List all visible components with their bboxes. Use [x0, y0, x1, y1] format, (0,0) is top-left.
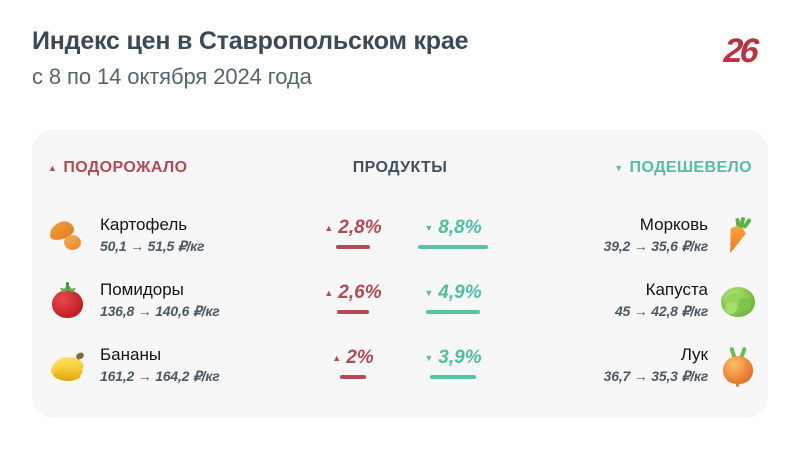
triangle-down-icon: ▼ — [424, 289, 433, 298]
percent-bar — [418, 245, 488, 249]
onion-emoji — [718, 345, 758, 385]
percent-cell-group: ▲ 2% ▼ 3,9% — [312, 348, 494, 383]
triangle-up-icon: ▲ — [332, 354, 341, 363]
title-block: Индекс цен в Ставропольском крае с 8 по … — [32, 26, 468, 91]
percent-bar — [426, 310, 480, 314]
percent-fallen: ▼ 3,9% — [412, 348, 494, 379]
triangle-up-icon: ▲ — [324, 289, 333, 298]
risen-product-cell: Бананы 161,2 → 164,2 ₽/кг — [32, 345, 312, 386]
product-price: 50,1 → 51,5 ₽/кг — [100, 238, 204, 256]
percent-bar — [340, 375, 366, 379]
product-name: Картофель — [100, 215, 204, 235]
potato-emoji — [48, 215, 88, 255]
percent-value: 8,8% — [438, 218, 481, 239]
percent-fallen: ▼ 4,9% — [412, 283, 494, 314]
fallen-product-cell: Капуста 45 → 42,8 ₽/кг — [494, 280, 774, 321]
table-row: Картофель 50,1 → 51,5 ₽/кг ▲ 2,8% ▼ 8,8% — [32, 203, 768, 268]
triangle-down-icon: ▼ — [424, 224, 433, 233]
product-price: 39,2 → 35,6 ₽/кг — [604, 238, 708, 256]
percent-bar — [430, 375, 476, 379]
column-header-risen: ▲ ПОДОРОЖАЛО — [32, 159, 312, 177]
carrot-emoji — [718, 215, 758, 255]
percent-bar — [336, 245, 370, 249]
triangle-down-icon: ▼ — [614, 164, 623, 173]
product-price: 36,7 → 35,3 ₽/кг — [604, 368, 708, 386]
product-name: Капуста — [646, 280, 708, 300]
percent-fallen: ▼ 8,8% — [412, 218, 494, 249]
page-title: Индекс цен в Ставропольском крае — [32, 26, 468, 58]
column-header-products: ПРОДУКТЫ — [312, 159, 488, 177]
fallen-product-cell: Морковь 39,2 → 35,6 ₽/кг — [494, 215, 774, 256]
page-header: Индекс цен в Ставропольском крае с 8 по … — [32, 26, 768, 91]
percent-value: 2,6% — [338, 283, 381, 304]
column-header-fallen-label: ПОДЕШЕВЕЛО — [630, 159, 752, 177]
rows-container: Картофель 50,1 → 51,5 ₽/кг ▲ 2,8% ▼ 8,8% — [32, 203, 768, 398]
product-name: Лук — [681, 345, 708, 365]
percent-value: 4,9% — [438, 283, 481, 304]
page-subtitle: с 8 по 14 октября 2024 года — [32, 63, 468, 92]
product-name: Помидоры — [100, 280, 220, 300]
cabbage-emoji — [718, 280, 758, 320]
percent-value: 2% — [346, 348, 373, 369]
column-headers: ▲ ПОДОРОЖАЛО ПРОДУКТЫ ▼ ПОДЕШЕВЕЛО — [32, 159, 768, 177]
tomato-emoji — [48, 280, 88, 320]
percent-cell-group: ▲ 2,8% ▼ 8,8% — [312, 218, 494, 253]
product-name: Морковь — [640, 215, 708, 235]
table-row: Помидоры 136,8 → 140,6 ₽/кг ▲ 2,6% ▼ 4,9… — [32, 268, 768, 333]
product-price: 45 → 42,8 ₽/кг — [615, 303, 708, 321]
percent-bar — [337, 310, 369, 314]
column-header-products-label: ПРОДУКТЫ — [353, 159, 448, 177]
percent-risen: ▲ 2,6% — [312, 283, 394, 314]
brand-logo-26: 26 — [723, 34, 757, 68]
banana-emoji — [48, 345, 88, 385]
triangle-down-icon: ▼ — [424, 354, 433, 363]
percent-risen: ▲ 2,8% — [312, 218, 394, 249]
percent-risen: ▲ 2% — [312, 348, 394, 379]
column-header-fallen: ▼ ПОДЕШЕВЕЛО — [488, 159, 768, 177]
triangle-up-icon: ▲ — [324, 224, 333, 233]
column-header-risen-label: ПОДОРОЖАЛО — [63, 159, 187, 177]
product-price: 136,8 → 140,6 ₽/кг — [100, 303, 220, 321]
fallen-product-cell: Лук 36,7 → 35,3 ₽/кг — [494, 345, 774, 386]
table-row: Бананы 161,2 → 164,2 ₽/кг ▲ 2% ▼ 3,9% — [32, 333, 768, 398]
risen-product-cell: Картофель 50,1 → 51,5 ₽/кг — [32, 215, 312, 256]
risen-product-cell: Помидоры 136,8 → 140,6 ₽/кг — [32, 280, 312, 321]
triangle-up-icon: ▲ — [48, 164, 57, 173]
price-index-card: ▲ ПОДОРОЖАЛО ПРОДУКТЫ ▼ ПОДЕШЕВЕЛО Карто… — [32, 129, 768, 418]
product-name: Бананы — [100, 345, 220, 365]
percent-value: 3,9% — [438, 348, 481, 369]
product-price: 161,2 → 164,2 ₽/кг — [100, 368, 220, 386]
percent-value: 2,8% — [338, 218, 381, 239]
percent-cell-group: ▲ 2,6% ▼ 4,9% — [312, 283, 494, 318]
